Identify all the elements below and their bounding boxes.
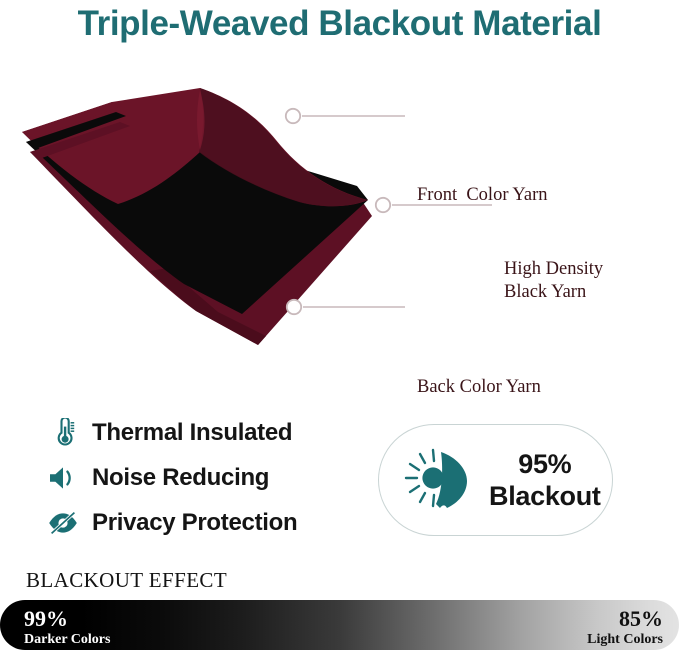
eye-slash-icon — [44, 506, 82, 540]
blackout-effect-gradient-bar: 99% Darker Colors 85% Light Colors — [0, 600, 679, 650]
dark-percent: 99% — [24, 608, 110, 630]
feature-list: Thermal Insulated Noise Reducing Pri — [44, 410, 364, 545]
thermometer-icon — [44, 416, 82, 450]
feature-row-thermal-insulated: Thermal Insulated — [44, 410, 364, 455]
circle-marker-icon — [376, 198, 390, 212]
feature-label: Privacy Protection — [92, 509, 297, 537]
blackout-effect-heading: BLACKOUT EFFECT — [26, 568, 227, 593]
callout-label-high-density-black-yarn: High Density Black Yarn — [504, 258, 603, 304]
blackout-badge: 95% Blackout — [378, 424, 613, 536]
callout-label-back-color-yarn: Back Color Yarn — [417, 376, 541, 399]
callout-label-front-color-yarn: Front Color Yarn — [417, 184, 548, 207]
light-caption: Light Colors — [587, 631, 663, 648]
sun-blocked-icon — [401, 445, 477, 515]
speaker-icon — [44, 461, 82, 495]
feature-label: Noise Reducing — [92, 464, 269, 492]
fabric-layers-svg — [0, 78, 679, 353]
circle-marker-icon — [287, 300, 301, 314]
infographic-page: Triple-Weaved Blackout Material — [0, 0, 679, 655]
gradient-bar-light-end: 85% Light Colors — [587, 608, 663, 648]
badge-percent: 95% — [518, 449, 571, 479]
light-percent: 85% — [587, 608, 663, 630]
fabric-layers-diagram: Front Color Yarn High Density Black Yarn… — [0, 78, 679, 353]
dark-caption: Darker Colors — [24, 631, 110, 648]
feature-label: Thermal Insulated — [92, 419, 292, 447]
page-title: Triple-Weaved Blackout Material — [0, 2, 679, 46]
circle-marker-icon — [286, 109, 300, 123]
feature-row-noise-reducing: Noise Reducing — [44, 455, 364, 500]
gradient-bar-dark-end: 99% Darker Colors — [24, 608, 110, 648]
badge-caption: Blackout — [489, 481, 601, 511]
badge-text-block: 95% Blackout — [489, 448, 601, 512]
feature-row-privacy-protection: Privacy Protection — [44, 500, 364, 545]
